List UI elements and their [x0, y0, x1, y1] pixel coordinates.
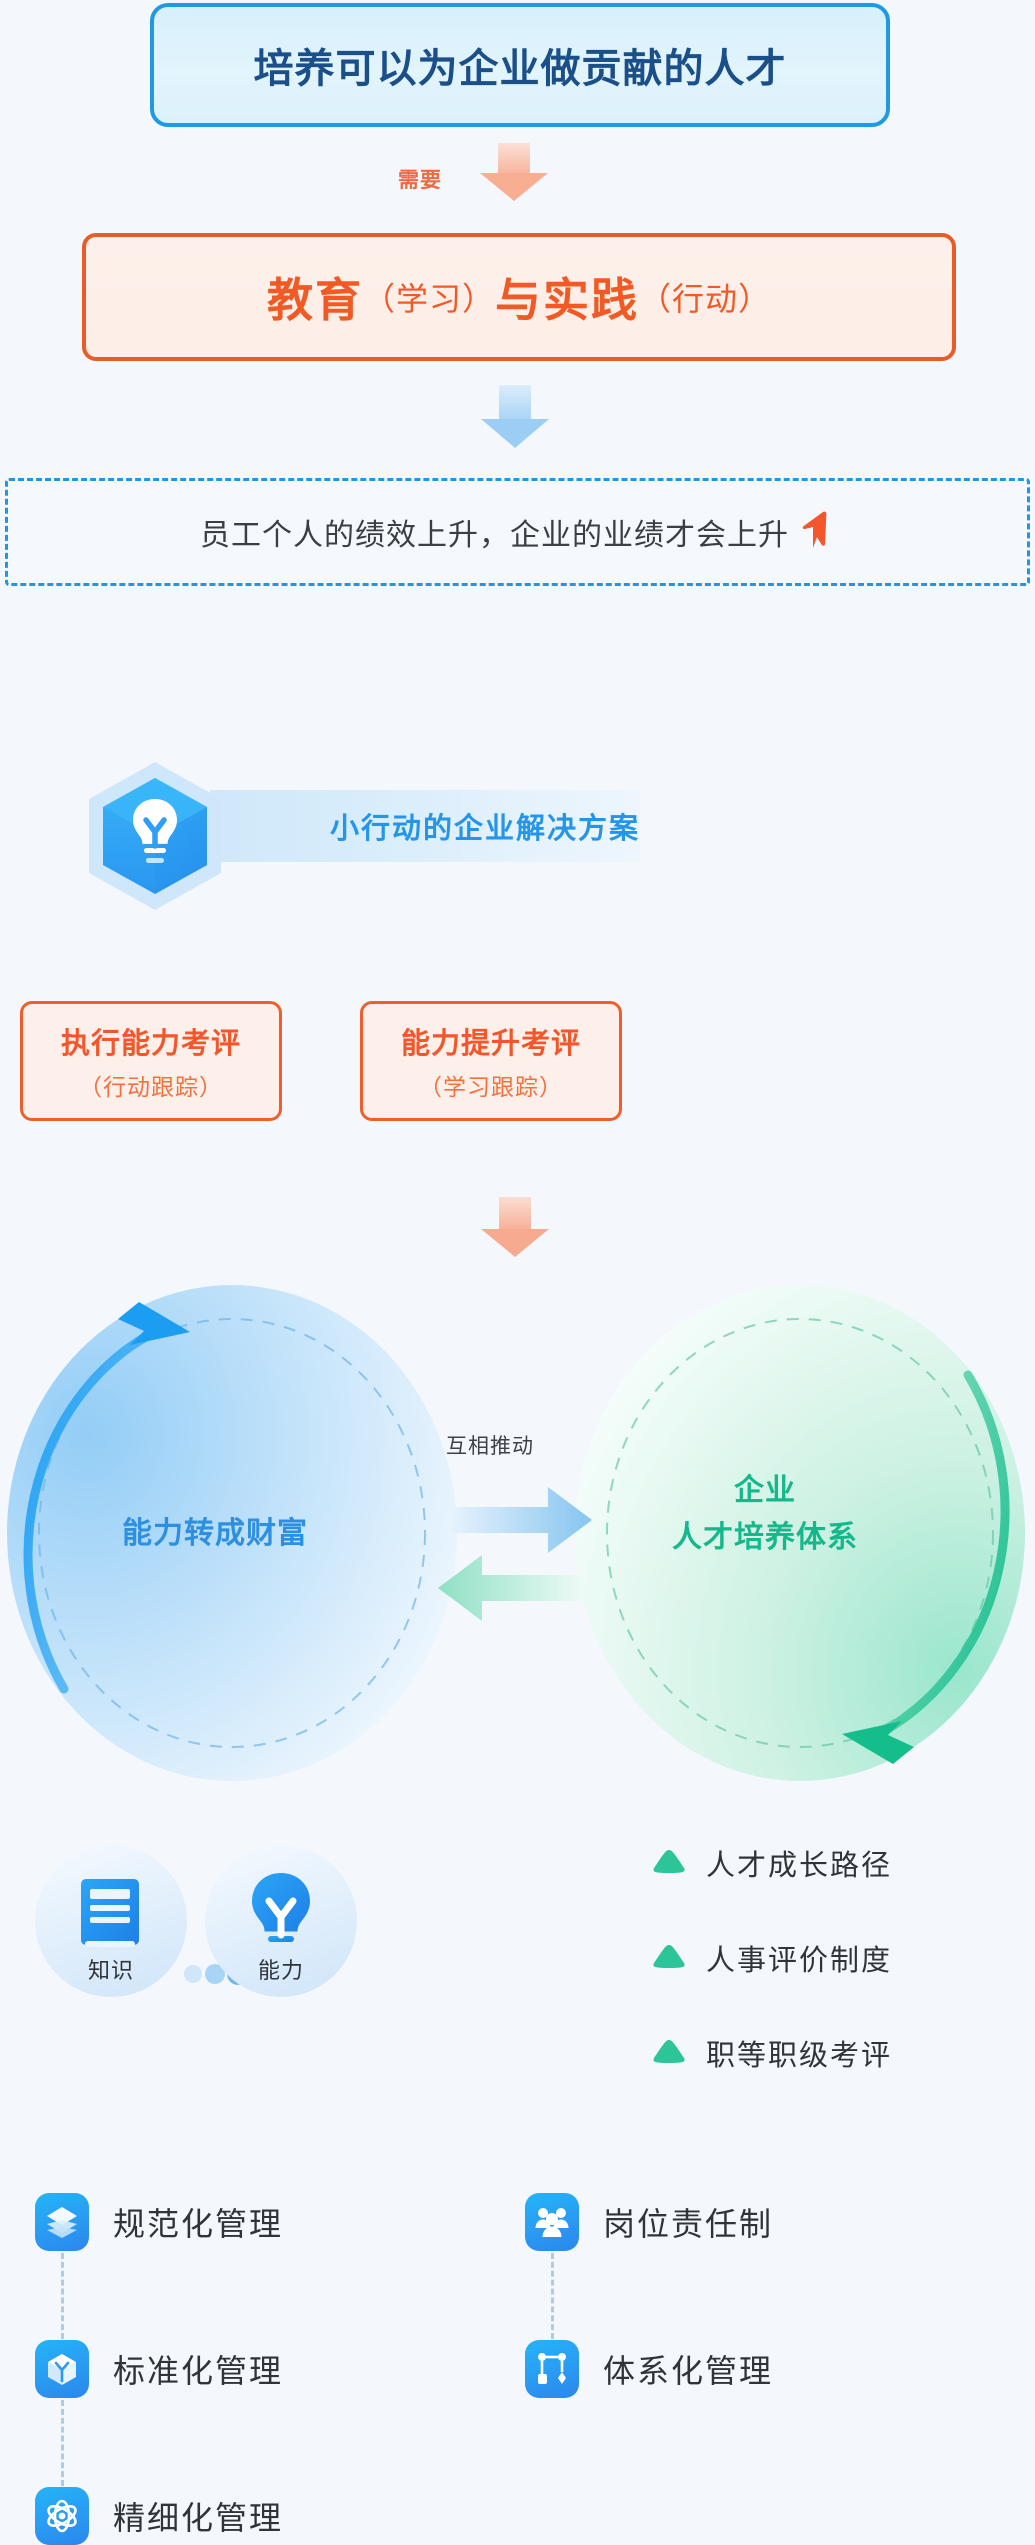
education-main-text: 教育 — [267, 264, 363, 330]
list-item: 职等职级考评 — [652, 2032, 892, 2074]
evaluation-card-improvement: 能力提升考评 （学习跟踪） — [360, 1001, 622, 1121]
arrow-down-icon — [498, 143, 530, 175]
dashed-connector — [551, 2253, 554, 2339]
lightbulb-hexagon-icon — [100, 776, 210, 896]
list-item: 人才成长路径 — [652, 1842, 892, 1884]
list-item-label: 人才成长路径 — [706, 1842, 892, 1884]
education-practice-box: 教育 （学习） 与实践 （行动） — [82, 233, 956, 361]
atom-icon — [35, 2487, 89, 2545]
knowledge-label: 知识 — [35, 1953, 187, 1985]
evaluation-card-execution: 执行能力考评 （行动跟踪） — [20, 1001, 282, 1121]
management-item-systematic: 体系化管理 — [525, 2340, 773, 2398]
venn-right-label-line2: 人才培养体系 — [610, 1515, 920, 1562]
arrow-down-icon-2 — [499, 385, 531, 421]
need-label: 需要 — [398, 164, 442, 194]
solution-banner-title: 小行动的企业解决方案 — [330, 805, 640, 847]
triangle-bullet-icon — [652, 1848, 686, 1879]
arrow-down-head-icon-3 — [481, 1229, 549, 1257]
evaluation-subtitle: （学习跟踪） — [419, 1068, 563, 1102]
list-item: 人事评价制度 — [652, 1937, 892, 1979]
solution-banner: 小行动的企业解决方案 — [210, 790, 640, 862]
venn-right-label-line1: 企业 — [610, 1468, 920, 1515]
evaluation-title: 能力提升考评 — [401, 1020, 581, 1062]
evaluation-title: 执行能力考评 — [61, 1020, 241, 1062]
practice-sub-text: （行动） — [639, 274, 771, 320]
arrow-down-icon-3 — [499, 1197, 531, 1230]
management-item-label: 精细化管理 — [113, 2493, 283, 2539]
venn-middle-label: 互相推动 — [410, 1430, 570, 1460]
performance-statement-box: 员工个人的绩效上升，企业的业绩才会上升 — [5, 478, 1030, 586]
management-item-label: 体系化管理 — [603, 2346, 773, 2392]
management-item-label: 规范化管理 — [113, 2199, 283, 2245]
cube-icon — [35, 2340, 89, 2398]
list-item-label: 人事评价制度 — [706, 1937, 892, 1979]
arrow-down-head-icon-2 — [481, 419, 549, 448]
management-item-label: 岗位责任制 — [603, 2199, 773, 2245]
people-icon — [525, 2193, 579, 2251]
management-item-label: 标准化管理 — [113, 2346, 283, 2392]
dashed-connector — [61, 2253, 64, 2339]
management-item-responsibility: 岗位责任制 — [525, 2193, 773, 2251]
education-sub-text: （学习） — [363, 274, 495, 320]
dashed-connector — [61, 2400, 64, 2486]
arrow-down-head-icon — [480, 173, 548, 201]
venn-right-label: 企业 人才培养体系 — [610, 1468, 920, 1561]
management-item-standardize: 规范化管理 — [35, 2193, 283, 2251]
rising-arrow-icon — [801, 511, 835, 554]
performance-statement-text: 员工个人的绩效上升，企业的业绩才会上升 — [200, 510, 789, 554]
management-item-refined: 精细化管理 — [35, 2487, 283, 2545]
layers-icon — [35, 2193, 89, 2251]
venn-left-label: 能力转成财富 — [60, 1508, 370, 1552]
headline-box: 培养可以为企业做贡献的人才 — [150, 3, 890, 127]
workflow-icon — [525, 2340, 579, 2398]
headline-text: 培养可以为企业做贡献的人才 — [254, 36, 787, 94]
triangle-bullet-icon — [652, 1943, 686, 1974]
practice-main-text: 与实践 — [495, 264, 639, 330]
ability-label: 能力 — [205, 1953, 357, 1985]
management-item-standard: 标准化管理 — [35, 2340, 283, 2398]
infographic-canvas: 培养可以为企业做贡献的人才 需要 教育 （学习） 与实践 （行动） 员工个人的绩… — [0, 0, 1035, 2535]
list-item-label: 职等职级考评 — [706, 2032, 892, 2074]
evaluation-subtitle: （行动跟踪） — [79, 1068, 223, 1102]
triangle-bullet-icon — [652, 2038, 686, 2069]
